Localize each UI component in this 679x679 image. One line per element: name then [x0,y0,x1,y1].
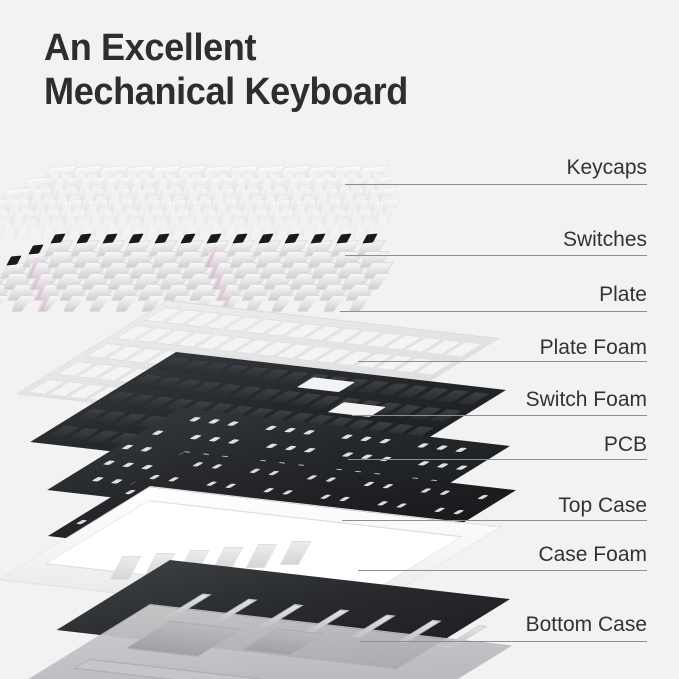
annotation-labels: KeycapsSwitchesPlatePlate FoamSwitch Foa… [0,0,679,679]
leader-line-top-case [342,520,647,521]
annotation-switches: Switches [563,228,647,252]
annotation-label: Top Case [558,494,647,518]
annotation-label: Plate [599,283,647,307]
annotation-label: PCB [604,433,647,457]
annotation-label: Bottom Case [526,613,647,637]
annotation-label: Switch Foam [526,388,647,412]
annotation-top-case: Top Case [558,494,647,518]
annotation-keycaps: Keycaps [566,156,647,180]
annotation-plate-foam: Plate Foam [540,336,647,360]
leader-line-plate-foam [358,361,647,362]
annotation-bottom-case: Bottom Case [526,613,647,637]
leader-line-plate [340,311,647,312]
annotation-plate: Plate [599,283,647,307]
annotation-label: Switches [563,228,647,252]
annotation-label: Case Foam [538,543,647,567]
annotation-pcb: PCB [604,433,647,457]
annotation-case-foam: Case Foam [538,543,647,567]
leader-line-bottom-case [360,641,647,642]
leader-line-case-foam [358,570,647,571]
annotation-switch-foam: Switch Foam [526,388,647,412]
annotation-label: Keycaps [566,156,647,180]
leader-line-keycaps [345,184,647,185]
leader-line-switch-foam [352,415,647,416]
leader-line-switches [345,255,647,256]
annotation-label: Plate Foam [540,336,647,360]
exploded-keyboard-infographic: An Excellent Mechanical Keyboard Keycaps… [0,0,679,679]
leader-line-pcb [348,459,647,460]
